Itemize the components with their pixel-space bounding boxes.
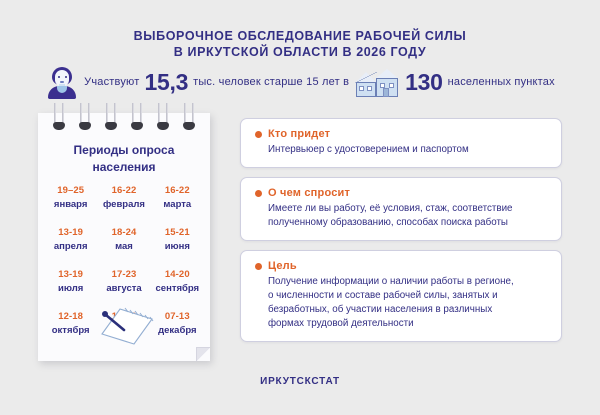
- card-body-line: формах трудовой деятельности: [268, 317, 547, 331]
- period-month: июля: [44, 283, 97, 295]
- page-title: ВЫБОРОЧНОЕ ОБСЛЕДОВАНИЕ РАБОЧЕЙ СИЛЫ В И…: [0, 28, 600, 60]
- card-title: О чем спросит: [268, 187, 350, 199]
- calendar-title-line-2: населения: [92, 160, 155, 174]
- person-icon: [45, 65, 79, 99]
- period-month: апреля: [44, 241, 97, 253]
- calendar-title: Периоды опроса населения: [38, 142, 210, 176]
- card-body: Имеете ли вы работу, её условия, стаж, с…: [255, 202, 547, 230]
- participants-count: 15,3: [145, 69, 189, 96]
- calendar-title-line-1: Периоды опроса: [74, 143, 175, 157]
- card-body: Интервьюер с удостоверением и паспортом: [255, 143, 547, 157]
- footer-organization: ИРКУТСКСТАТ: [0, 376, 600, 387]
- period-month: августа: [97, 283, 150, 295]
- binding-ring-icon: [79, 103, 92, 133]
- period-range: 13-19: [44, 227, 97, 239]
- card-body-line: о численности и составе рабочей силы, за…: [268, 289, 547, 303]
- period-cell: 15-21июня: [151, 227, 204, 253]
- period-cell: 16-22марта: [151, 185, 204, 211]
- card-body-line: Интервьюер с удостоверением и паспортом: [268, 143, 547, 157]
- title-line-2: В ИРКУТСКОЙ ОБЛАСТИ В 2026 ГОДУ: [0, 44, 600, 60]
- binding-ring-icon: [157, 103, 170, 133]
- period-cell: 13-19июля: [44, 269, 97, 295]
- card-body-line: безработных, об участии населения в разл…: [268, 303, 547, 317]
- card-title: Цель: [268, 260, 297, 272]
- card-body-line: полученному образованию, способах поиска…: [268, 216, 547, 230]
- house-icon: [354, 65, 400, 99]
- binding-ring-icon: [53, 103, 66, 133]
- period-cell: 13-19апреля: [44, 227, 97, 253]
- settlements-count: 130: [405, 69, 442, 96]
- binding-ring-icon: [131, 103, 144, 133]
- period-month: мая: [97, 241, 150, 253]
- card-body: Получение информации о наличии работы в …: [255, 275, 547, 331]
- period-month: июня: [151, 241, 204, 253]
- period-range: 19–25: [44, 185, 97, 197]
- period-range: 16-22: [97, 185, 150, 197]
- title-line-1: ВЫБОРОЧНОЕ ОБСЛЕДОВАНИЕ РАБОЧЕЙ СИЛЫ: [0, 28, 600, 44]
- card-title: Кто придет: [268, 128, 330, 140]
- period-cell: 18-24мая: [97, 227, 150, 253]
- card-header: О чем спросит: [255, 187, 547, 199]
- period-range: 13-19: [44, 269, 97, 281]
- info-card-what-will-be-asked: О чем спросит Имеете ли вы работу, её ус…: [240, 177, 562, 241]
- period-cell: 19–25января: [44, 185, 97, 211]
- bullet-icon: [255, 131, 262, 138]
- period-cell: 16-22февраля: [97, 185, 150, 211]
- bullet-icon: [255, 190, 262, 197]
- settlements-unit: населенных пунктах: [448, 76, 555, 88]
- card-body-line: Имеете ли вы работу, её условия, стаж, с…: [268, 202, 547, 216]
- period-range: 15-21: [151, 227, 204, 239]
- period-cell: 17-23августа: [97, 269, 150, 295]
- participants-unit: тыс. человек старше 15 лет в: [193, 76, 349, 88]
- period-cell: 14-20сентября: [151, 269, 204, 295]
- bullet-icon: [255, 263, 262, 270]
- period-month: марта: [151, 199, 204, 211]
- card-header: Кто придет: [255, 128, 547, 140]
- info-card-list: Кто придет Интервьюер с удостоверением и…: [240, 118, 562, 351]
- summary-stat-row: Участвуют 15,3 тыс. человек старше 15 ле…: [0, 62, 600, 102]
- binding-ring-icon: [183, 103, 196, 133]
- period-month: февраля: [97, 199, 150, 211]
- period-range: 14-20: [151, 269, 204, 281]
- period-range: 16-22: [151, 185, 204, 197]
- notepad-pen-icon: [90, 303, 160, 349]
- period-month: января: [44, 199, 97, 211]
- calendar-spiral-binding: [38, 103, 210, 133]
- period-range: 17-23: [97, 269, 150, 281]
- info-card-goal: Цель Получение информации о наличии рабо…: [240, 250, 562, 342]
- period-range: 18-24: [97, 227, 150, 239]
- period-month: сентября: [151, 283, 204, 295]
- survey-periods-calendar: Периоды опроса населения 19–25января 16-…: [38, 113, 210, 361]
- binding-ring-icon: [105, 103, 118, 133]
- info-card-who-will-come: Кто придет Интервьюер с удостоверением и…: [240, 118, 562, 168]
- card-body-line: Получение информации о наличии работы в …: [268, 275, 547, 289]
- card-header: Цель: [255, 260, 547, 272]
- participants-label: Участвуют: [84, 76, 139, 88]
